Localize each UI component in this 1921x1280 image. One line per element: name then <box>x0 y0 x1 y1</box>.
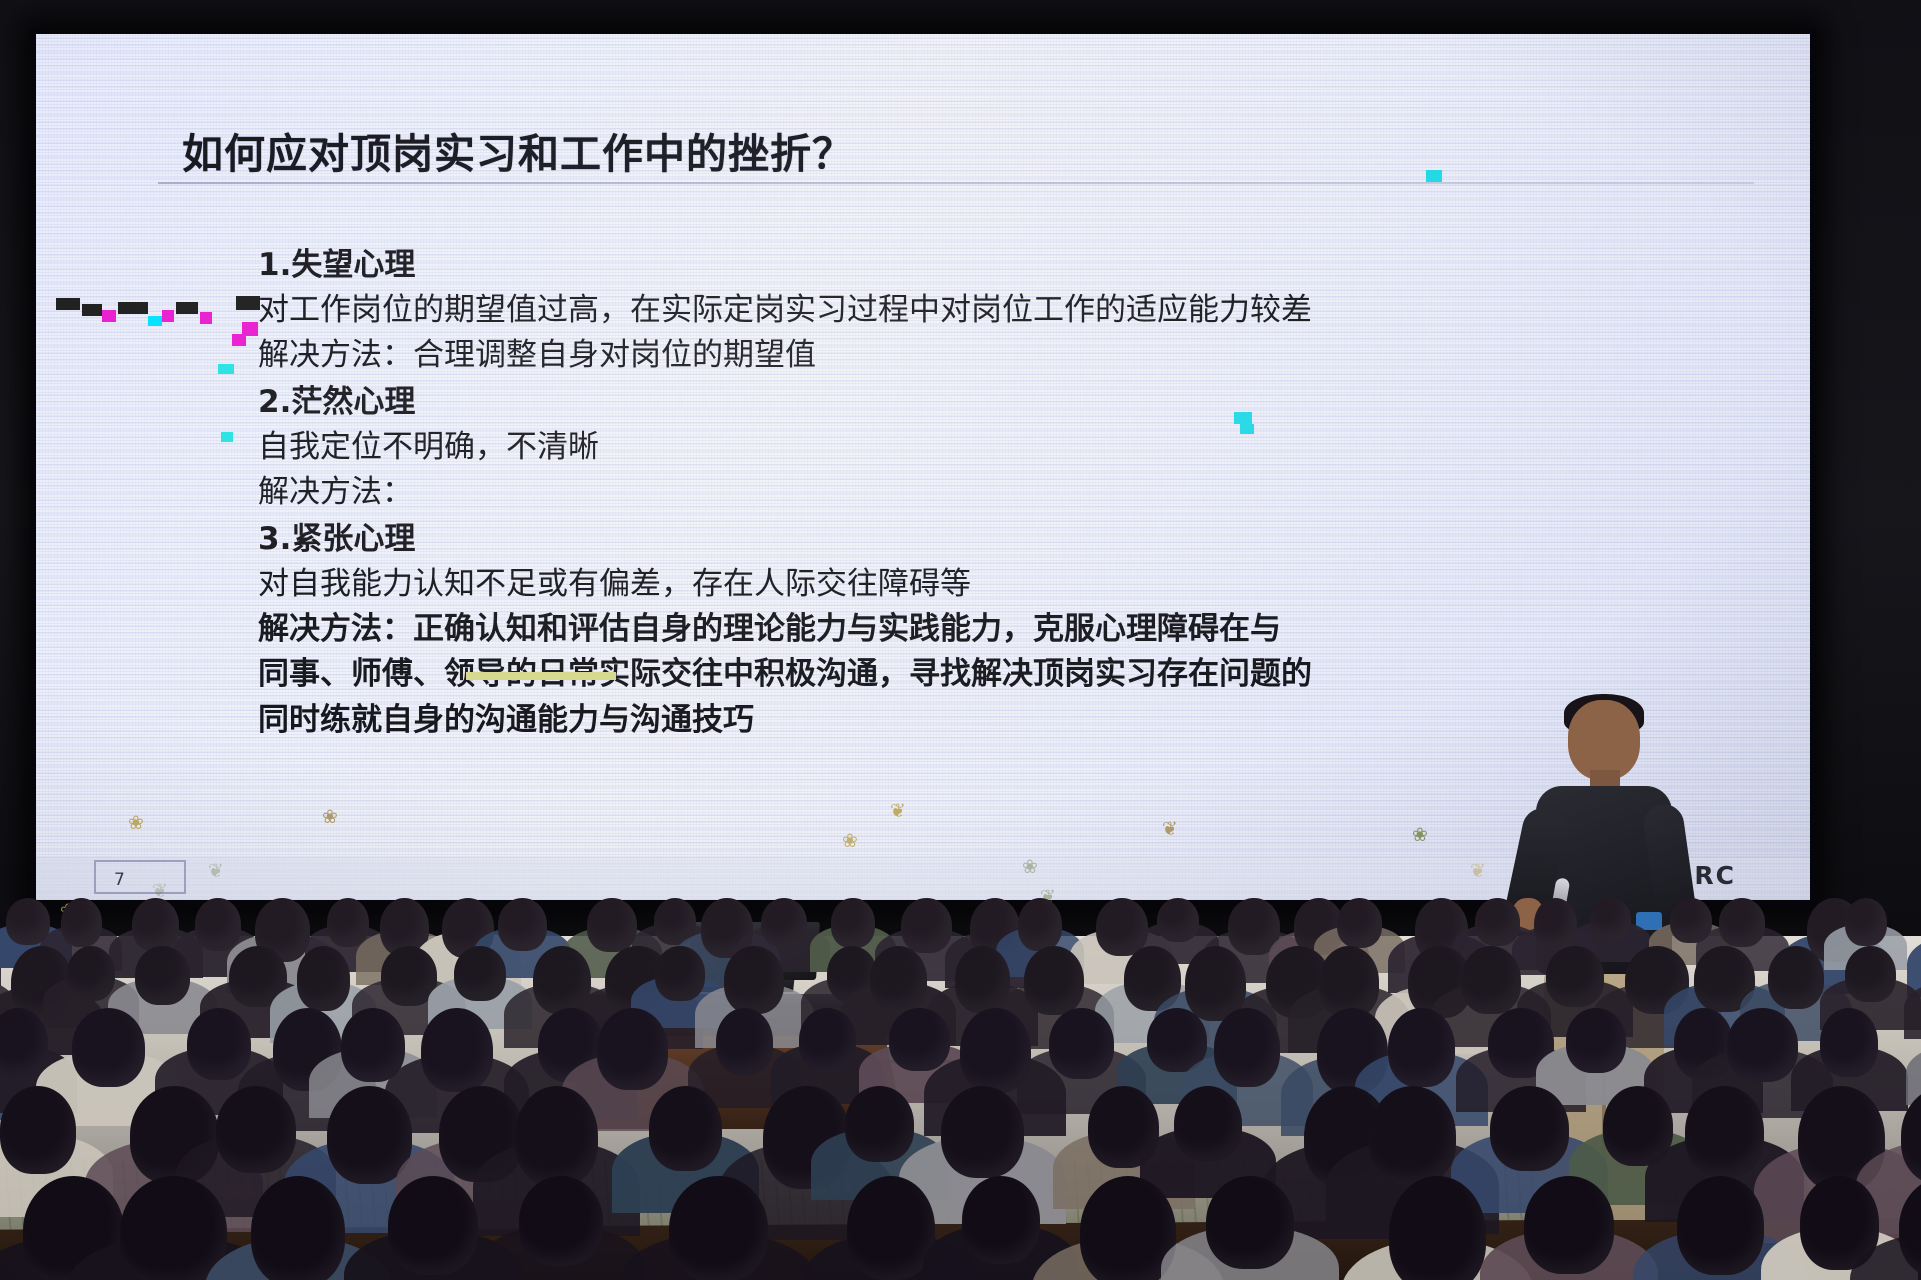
glitch-block <box>1234 412 1252 424</box>
glitch-block <box>162 310 174 322</box>
block-3-line-1: 对自我能力认知不足或有偏差，存在人际交往障碍等 <box>258 564 1312 604</box>
audience-head <box>1337 898 1383 948</box>
audience-head <box>1461 946 1521 1014</box>
audience-head <box>962 1176 1040 1264</box>
title-divider <box>158 182 1754 184</box>
audience-head <box>655 946 704 1001</box>
audience-head <box>120 1176 227 1280</box>
block-1-line-2: 解决方法：合理调整自身对岗位的期望值 <box>258 335 1312 375</box>
audience-head <box>587 898 636 952</box>
audience-head <box>845 1086 914 1162</box>
glitch-block <box>56 298 80 310</box>
audience-head <box>61 898 102 947</box>
audience-head <box>1174 1086 1242 1161</box>
glitch-block <box>218 364 234 374</box>
presenter-head <box>1568 700 1640 780</box>
audience-head <box>1214 1008 1280 1087</box>
audience-head <box>132 898 179 951</box>
audience-head <box>1677 1176 1764 1275</box>
block-3-line-2: 解决方法：正确认知和评估自身的理论能力与实践能力，克服心理障碍在与 <box>258 609 1312 649</box>
slide-block-1: 1.失望心理 对工作岗位的期望值过高，在实际定岗实习过程中对岗位工作的适应能力较… <box>258 246 1312 380</box>
glitch-block <box>1426 170 1442 182</box>
lecture-hall-photo: 如何应对顶岗实习和工作中的挫折？ 1.失望心理 对工作岗位的期望值过高，在实际定… <box>0 0 1921 1280</box>
audience-head <box>1475 898 1521 946</box>
audience-head <box>1524 1176 1613 1274</box>
glitch-block <box>200 312 212 324</box>
slide-block-2: 2.茫然心理 自我定位不明确，不清晰 解决方法： <box>258 383 599 517</box>
audience-head <box>1727 1008 1797 1082</box>
audience-head <box>1546 946 1604 1007</box>
audience-head <box>761 898 807 947</box>
audience-head <box>669 1176 767 1280</box>
audience-head <box>421 1008 493 1092</box>
glitch-block <box>82 304 102 316</box>
audience-head <box>515 1086 599 1186</box>
page-number-box <box>94 860 186 894</box>
audience-head <box>1049 1008 1114 1079</box>
block-3-heading: 3.紧张心理 <box>258 520 1312 559</box>
glitch-block <box>118 302 148 314</box>
audience-head <box>1845 898 1887 946</box>
audience-head <box>1685 1086 1764 1177</box>
glitch-block <box>466 672 616 680</box>
audience-head <box>1719 898 1765 947</box>
audience-head <box>1024 946 1084 1015</box>
audience-head <box>941 1086 1024 1178</box>
block-2-heading: 2.茫然心理 <box>258 383 599 422</box>
block-1-line-1: 对工作岗位的期望值过高，在实际定岗实习过程中对岗位工作的适应能力较差 <box>258 290 1312 330</box>
audience-head <box>724 946 784 1014</box>
audience-head <box>1206 1176 1295 1268</box>
audience-head <box>297 946 351 1011</box>
glitch-block <box>232 334 246 346</box>
audience-head <box>1820 1008 1878 1077</box>
glitch-block <box>148 316 162 326</box>
glitch-block <box>1240 424 1254 434</box>
audience-head <box>72 1008 145 1087</box>
audience-head <box>388 1176 477 1275</box>
glitch-block <box>176 302 198 314</box>
glitch-block <box>221 432 233 442</box>
block-2-line-1: 自我定位不明确，不清晰 <box>258 427 599 467</box>
audience-head <box>1768 946 1824 1009</box>
audience-head <box>901 898 952 953</box>
slide-block-3: 3.紧张心理 对自我能力认知不足或有偏差，存在人际交往障碍等 解决方法：正确认知… <box>258 520 1312 745</box>
block-3-line-3: 同事、师傅、领导的日常实际交往中积极沟通，寻找解决顶岗实习存在问题的 <box>258 654 1312 694</box>
audience-head <box>67 946 115 1001</box>
audience-head <box>251 1176 345 1280</box>
audience-head <box>1018 898 1062 951</box>
audience-head <box>519 1176 603 1266</box>
glitch-block <box>236 296 260 310</box>
block-3-line-4: 同时练就自身的沟通能力与沟通技巧 <box>258 700 1312 740</box>
slide-page-number: 7 <box>114 870 125 890</box>
audience-head <box>1490 1086 1568 1171</box>
audience-head <box>195 898 241 951</box>
brand-label: RC <box>1694 861 1736 890</box>
audience-head <box>0 1086 76 1174</box>
audience-head <box>597 1008 668 1090</box>
audience <box>0 890 1921 1280</box>
audience-head <box>889 1008 949 1071</box>
glitch-block <box>102 310 116 322</box>
audience-head <box>1590 898 1631 941</box>
audience-head <box>498 898 547 951</box>
audience-head <box>1566 1008 1625 1073</box>
audience-head <box>870 946 927 1012</box>
audience-head <box>649 1086 723 1171</box>
audience-head <box>327 898 369 947</box>
audience-head <box>135 946 190 1005</box>
audience-head <box>216 1086 296 1173</box>
audience-head <box>187 1008 251 1080</box>
audience-head <box>1845 946 1896 1002</box>
audience-head <box>454 946 506 1001</box>
audience-head <box>716 1008 773 1075</box>
audience-head <box>831 898 874 948</box>
block-2-line-2: 解决方法： <box>258 472 599 512</box>
slide-title: 如何应对顶岗实习和工作中的挫折？ <box>182 120 854 180</box>
audience-head <box>799 1008 855 1072</box>
audience-head <box>847 1176 935 1280</box>
audience-head <box>1157 898 1198 942</box>
block-1-heading: 1.失望心理 <box>258 246 1312 285</box>
audience-head <box>1388 1008 1454 1087</box>
audience-head <box>1369 1086 1455 1185</box>
